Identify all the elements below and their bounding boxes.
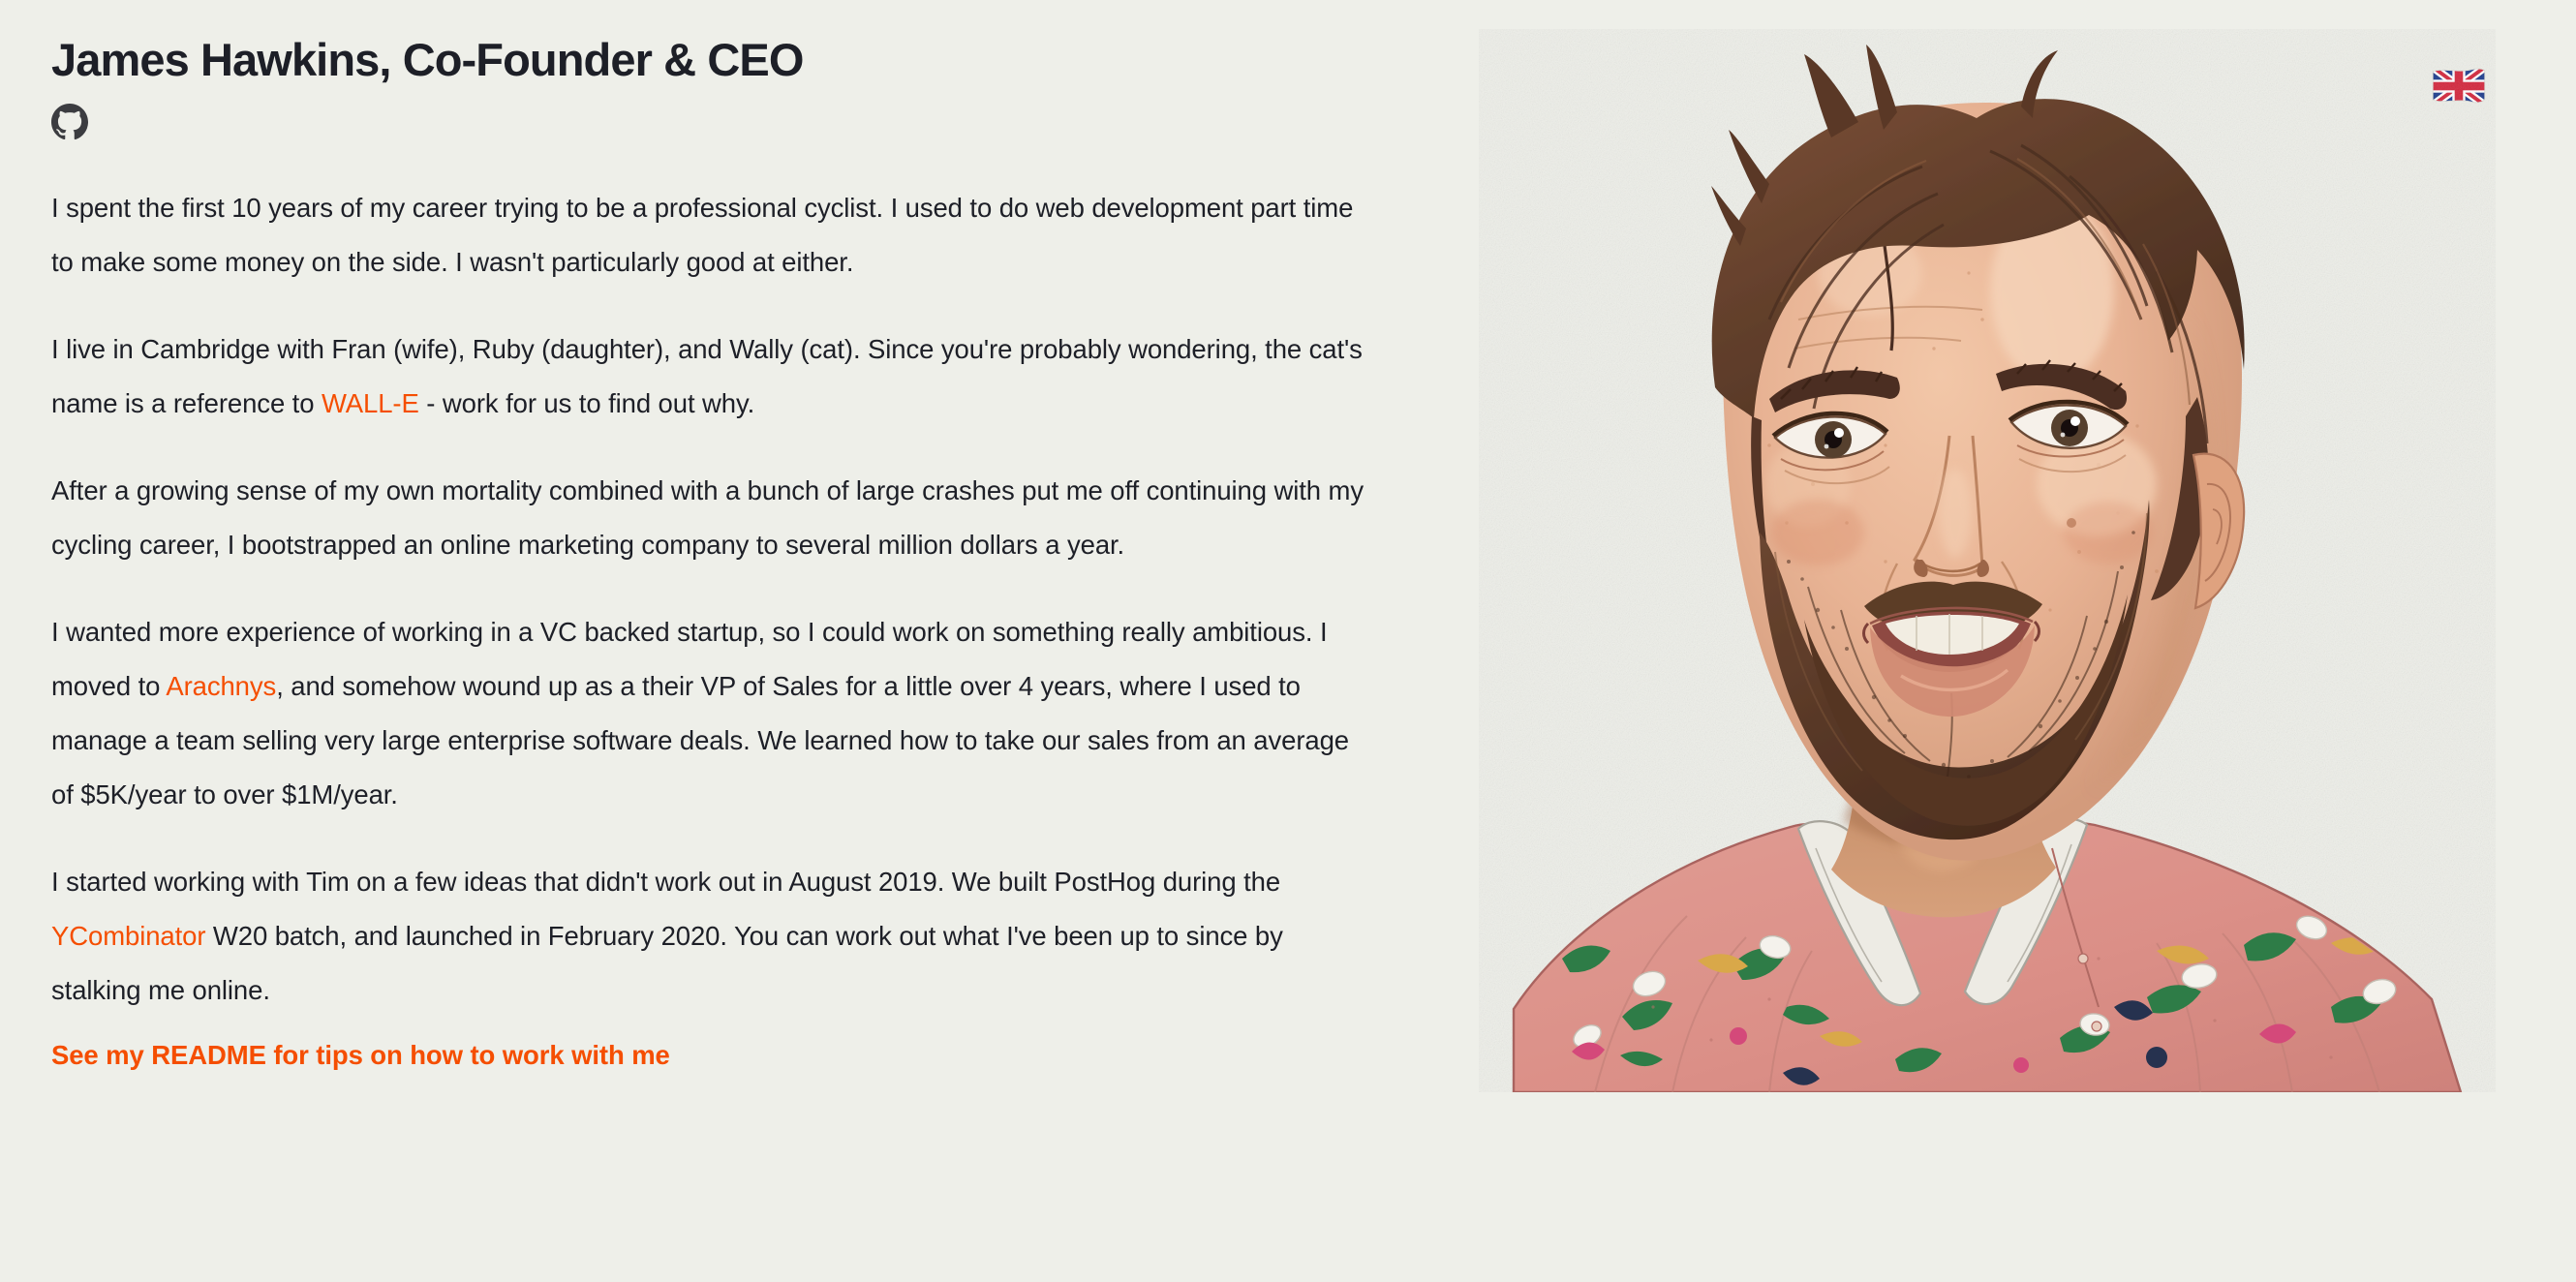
bio-paragraph-3: After a growing sense of my own mortalit… <box>51 464 1378 572</box>
readme-link[interactable]: See my README for tips on how to work wi… <box>51 1036 670 1075</box>
page-title: James Hawkins, Co-Founder & CEO <box>51 35 1407 86</box>
paragraph-text: - work for us to find out why. <box>419 388 754 418</box>
ycombinator-link[interactable]: YCombinator <box>51 921 205 951</box>
paragraph-text: I started working with Tim on a few idea… <box>51 867 1280 897</box>
github-icon[interactable] <box>51 104 88 140</box>
bio-paragraph-2: I live in Cambridge with Fran (wife), Ru… <box>51 322 1378 431</box>
wall-e-link[interactable]: WALL-E <box>322 388 419 418</box>
paragraph-text: W20 batch, and launched in February 2020… <box>51 921 1283 1005</box>
social-links-row <box>51 104 1407 140</box>
paragraph-text: After a growing sense of my own mortalit… <box>51 475 1364 560</box>
bio-paragraph-4: I wanted more experience of working in a… <box>51 605 1378 822</box>
illustrated-portrait-james-hawkins <box>1479 29 2496 1092</box>
bio-paragraph-1: I spent the first 10 years of my career … <box>51 181 1378 290</box>
bio-column: James Hawkins, Co-Founder & CEO I spent … <box>51 35 1407 1075</box>
bio-paragraph-5: I started working with Tim on a few idea… <box>51 855 1378 1018</box>
bio-paragraphs: I spent the first 10 years of my career … <box>51 181 1407 1075</box>
arachnys-link[interactable]: Arachnys <box>166 671 276 701</box>
profile-page: James Hawkins, Co-Founder & CEO I spent … <box>0 0 2576 1282</box>
paragraph-text: I spent the first 10 years of my career … <box>51 193 1353 277</box>
